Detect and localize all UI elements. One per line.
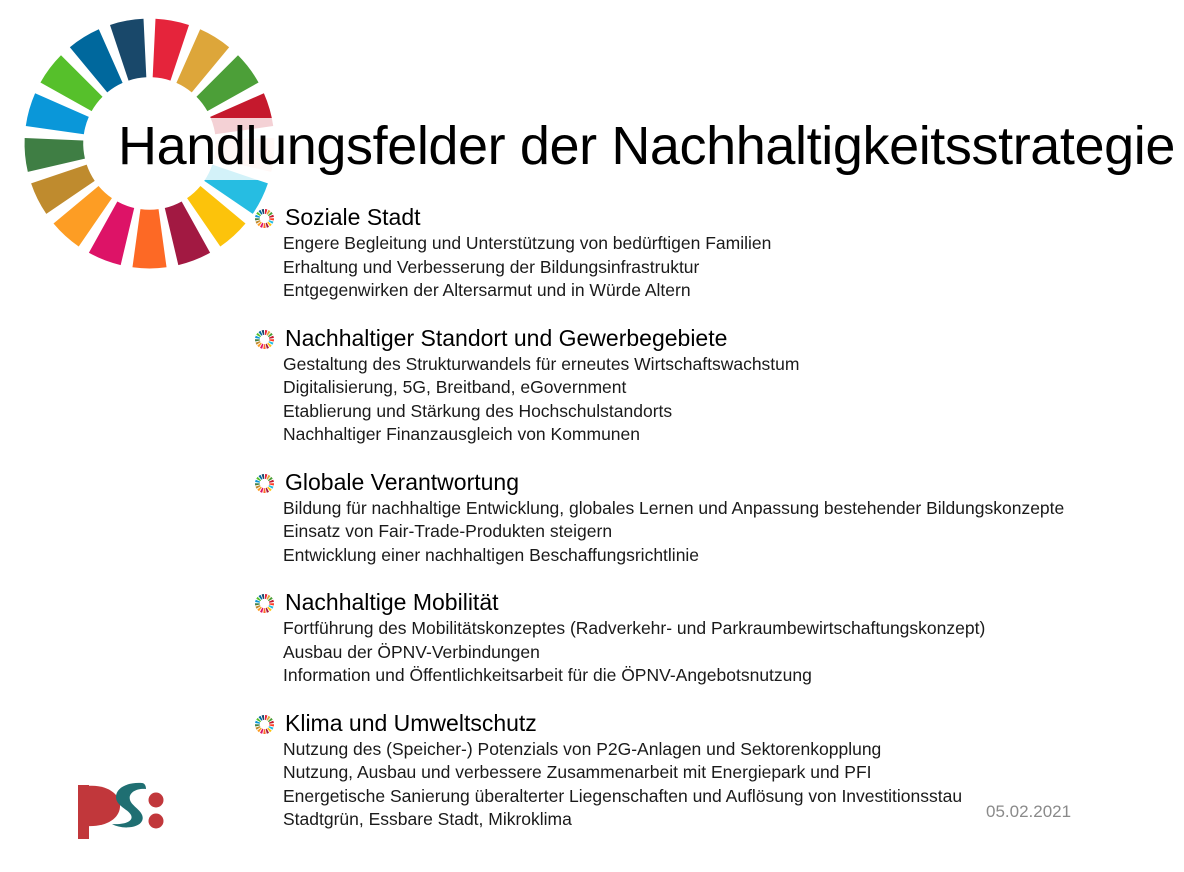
action-field-item: Fortführung des Mobilitätskonzeptes (Rad…	[283, 617, 1155, 641]
sdg-wheel-bullet-icon	[255, 209, 274, 228]
action-field-item: Einsatz von Fair-Trade-Produkten steiger…	[283, 520, 1155, 544]
action-field-title: Nachhaltiger Standort und Gewerbegebiete	[285, 324, 1155, 352]
action-field-title: Globale Verantwortung	[285, 468, 1155, 496]
action-field-item: Etablierung und Stärkung des Hochschulst…	[283, 400, 1155, 424]
sdg-wheel-bullet-icon	[255, 715, 274, 734]
sdg-wheel-bullet-icon	[255, 330, 274, 349]
action-field-items: Bildung für nachhaltige Entwicklung, glo…	[283, 497, 1155, 568]
slide-date: 05.02.2021	[986, 801, 1071, 823]
action-field: Nachhaltige MobilitätFortführung des Mob…	[255, 588, 1155, 688]
action-field-header: Soziale Stadt	[255, 203, 1155, 231]
sdg-wheel-bullet-icon	[255, 594, 274, 613]
action-field-title: Nachhaltige Mobilität	[285, 588, 1155, 616]
action-fields-list: Soziale StadtEngere Begleitung und Unter…	[255, 203, 1155, 832]
action-field-item: Nutzung, Ausbau und verbessere Zusammena…	[283, 761, 1155, 785]
action-field-header: Nachhaltige Mobilität	[255, 588, 1155, 616]
action-field-items: Engere Begleitung und Unterstützung von …	[283, 232, 1155, 303]
action-field: Globale VerantwortungBildung für nachhal…	[255, 468, 1155, 568]
page-title: Handlungsfelder der Nachhaltigkeitsstrat…	[118, 115, 1175, 177]
sdg-wheel-bullet-icon	[255, 474, 274, 493]
action-field-item: Bildung für nachhaltige Entwicklung, glo…	[283, 497, 1155, 521]
action-field-title: Klima und Umweltschutz	[285, 709, 1155, 737]
action-field-item: Gestaltung des Strukturwandels für erneu…	[283, 353, 1155, 377]
ps-logo	[72, 779, 182, 841]
action-field-items: Gestaltung des Strukturwandels für erneu…	[283, 353, 1155, 447]
action-field-item: Erhaltung und Verbesserung der Bildungsi…	[283, 256, 1155, 280]
action-field-header: Globale Verantwortung	[255, 468, 1155, 496]
action-field: Soziale StadtEngere Begleitung und Unter…	[255, 203, 1155, 303]
action-field-header: Nachhaltiger Standort und Gewerbegebiete	[255, 324, 1155, 352]
action-field-title: Soziale Stadt	[285, 203, 1155, 231]
action-field: Nachhaltiger Standort und Gewerbegebiete…	[255, 324, 1155, 447]
action-field-item: Digitalisierung, 5G, Breitband, eGovernm…	[283, 376, 1155, 400]
action-field-item: Nachhaltiger Finanzausgleich von Kommune…	[283, 423, 1155, 447]
action-field-item: Entgegenwirken der Altersarmut und in Wü…	[283, 279, 1155, 303]
action-field-items: Fortführung des Mobilitätskonzeptes (Rad…	[283, 617, 1155, 688]
action-field-item: Information und Öffentlichkeitsarbeit fü…	[283, 664, 1155, 688]
action-field-item: Engere Begleitung und Unterstützung von …	[283, 232, 1155, 256]
action-field-item: Entwicklung einer nachhaltigen Beschaffu…	[283, 544, 1155, 568]
action-field-item: Ausbau der ÖPNV-Verbindungen	[283, 641, 1155, 665]
action-field-header: Klima und Umweltschutz	[255, 709, 1155, 737]
action-field-item: Nutzung des (Speicher-) Potenzials von P…	[283, 738, 1155, 762]
